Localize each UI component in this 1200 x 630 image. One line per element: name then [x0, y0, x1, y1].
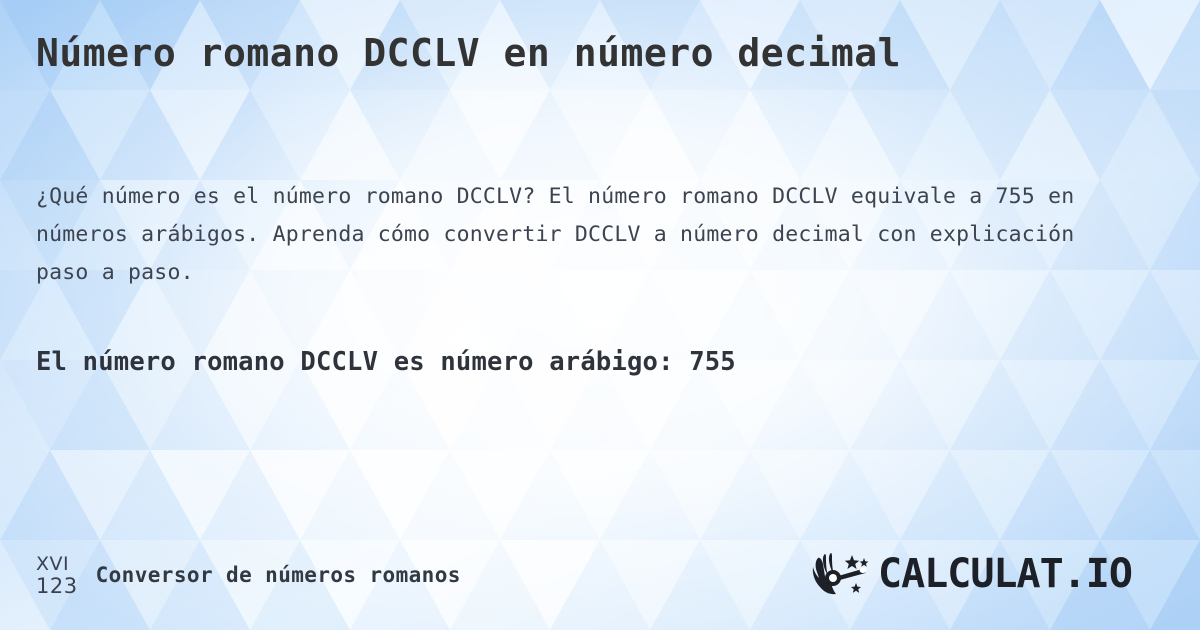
roman-logo-bottom-text: 123 [36, 576, 78, 597]
site-logo-text: CALCULAT.IO [878, 552, 1164, 598]
roman-numeral-logo-icon: XVI 123 [36, 553, 78, 597]
social-share-card: Número romano DCCLV en número decimal ¿Q… [0, 0, 1200, 630]
answer-statement: El número romano DCCLV es número arábigo… [36, 345, 1156, 379]
roman-logo-top-text: XVI [36, 555, 69, 574]
site-logo[interactable]: CALCULAT.IO [812, 552, 1164, 598]
footer-tagline: Conversor de números romanos [96, 563, 461, 587]
intro-paragraph: ¿Qué número es el número romano DCCLV? E… [36, 178, 1096, 292]
card-content: Número romano DCCLV en número decimal ¿Q… [0, 0, 1200, 630]
card-footer: XVI 123 Conversor de números romanos [0, 520, 1200, 630]
svg-text:CALCULAT.IO: CALCULAT.IO [878, 552, 1132, 597]
hand-magic-wand-icon [812, 552, 874, 598]
footer-brand: XVI 123 Conversor de números romanos [36, 553, 461, 597]
page-title: Número romano DCCLV en número decimal [36, 30, 1166, 76]
